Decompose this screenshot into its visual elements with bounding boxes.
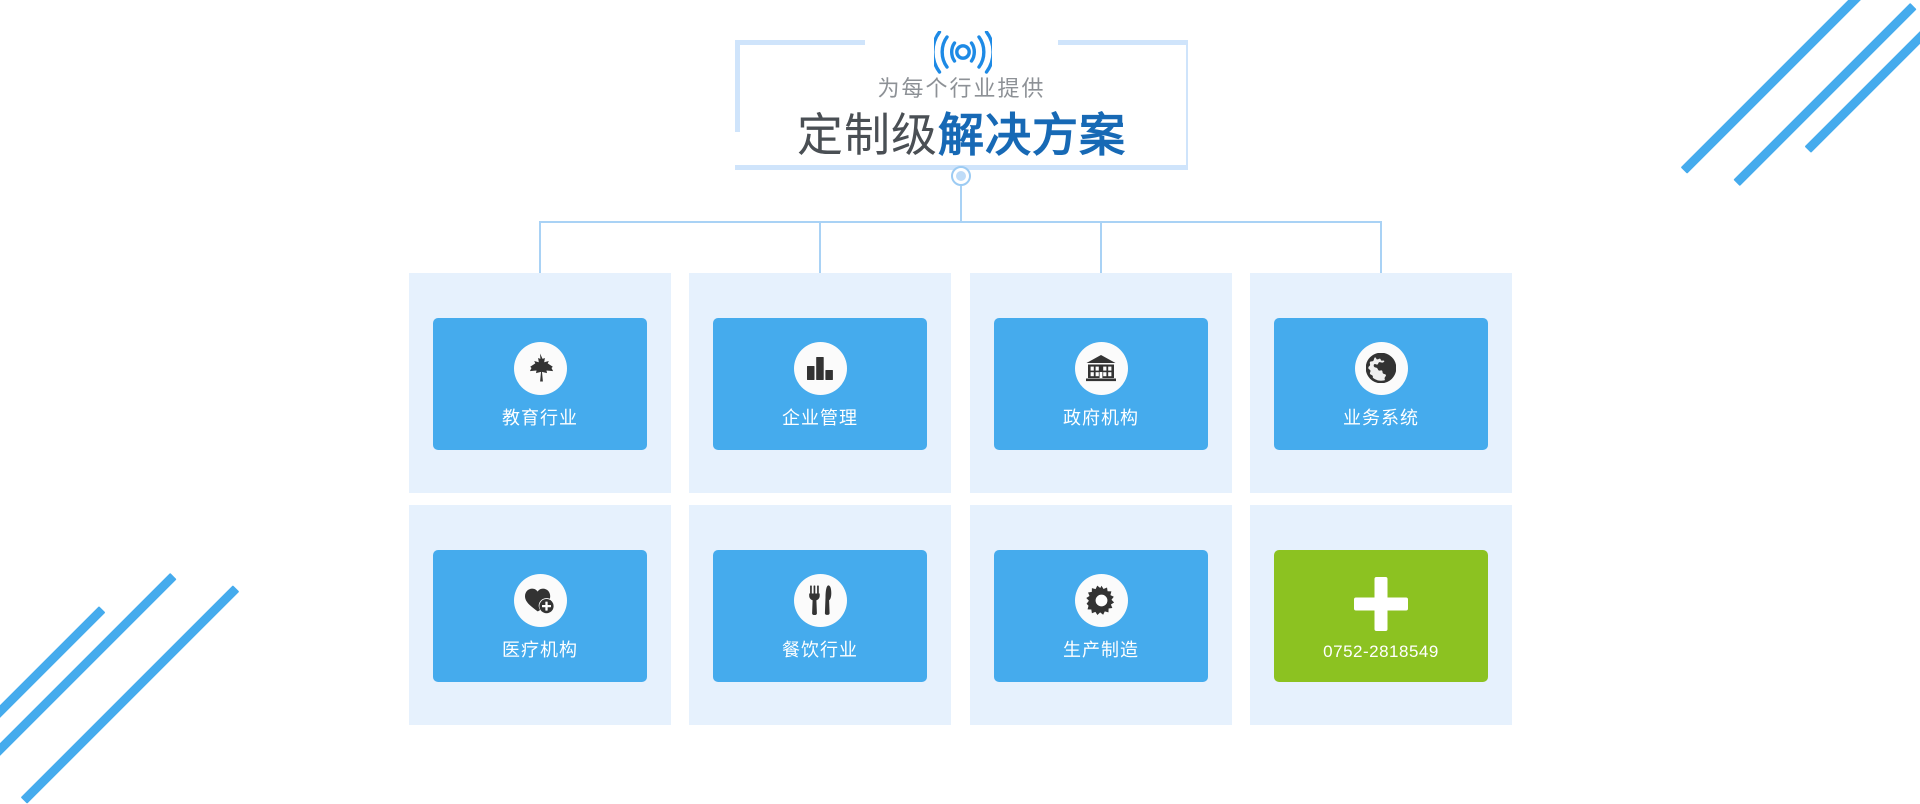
government-building-icon	[1075, 342, 1128, 395]
poster-canvas: 为每个行业提供 定制级解决方案 教育行业	[0, 0, 1920, 750]
plus-icon	[1350, 573, 1412, 635]
contact-phone-number: 0752-2818549	[1323, 643, 1439, 660]
tree-branch	[819, 221, 821, 275]
industry-card-education[interactable]: 教育行业	[433, 318, 647, 450]
frame-top-right-bar	[1058, 40, 1188, 45]
contact-card-phone[interactable]: 0752-2818549	[1274, 550, 1488, 682]
gear-icon	[1075, 574, 1128, 627]
industry-card-label: 政府机构	[1063, 409, 1139, 427]
frame-top-left-bar	[735, 40, 865, 45]
industry-card-grid: 教育行业 企业管理	[409, 273, 1511, 687]
industry-card-label: 生产制造	[1063, 641, 1139, 659]
fork-knife-icon	[794, 574, 847, 627]
industry-card-label: 餐饮行业	[782, 641, 858, 659]
tree-branch	[539, 221, 541, 275]
industry-card-label: 企业管理	[782, 409, 858, 427]
tree-branch	[1380, 221, 1382, 275]
industry-card-business-system[interactable]: 业务系统	[1274, 318, 1488, 450]
tree-branch	[1100, 221, 1102, 275]
industry-card-label: 教育行业	[502, 409, 578, 427]
page-title: 定制级解决方案	[735, 112, 1188, 158]
industry-card-medical[interactable]: 医疗机构	[433, 550, 647, 682]
globe-icon	[1355, 342, 1408, 395]
tree-stem	[960, 186, 962, 222]
industry-card-catering[interactable]: 餐饮行业	[713, 550, 927, 682]
page-title-emphasis: 解决方案	[938, 109, 1126, 161]
page-subtitle: 为每个行业提供	[735, 78, 1188, 100]
industry-card-government[interactable]: 政府机构	[994, 318, 1208, 450]
page-title-prefix: 定制级	[797, 109, 938, 161]
bar-chart-icon	[794, 342, 847, 395]
industry-card-manufacturing[interactable]: 生产制造	[994, 550, 1208, 682]
title-block: 为每个行业提供 定制级解决方案	[735, 28, 1190, 178]
industry-card-enterprise[interactable]: 企业管理	[713, 318, 927, 450]
tree-horizontal-bar	[539, 221, 1382, 223]
industry-card-label: 业务系统	[1343, 409, 1419, 427]
maple-leaf-icon	[514, 342, 567, 395]
industry-card-label: 医疗机构	[502, 641, 578, 659]
heart-plus-icon	[514, 574, 567, 627]
wifi-signal-icon	[931, 28, 995, 78]
tree-root-node	[951, 166, 971, 186]
